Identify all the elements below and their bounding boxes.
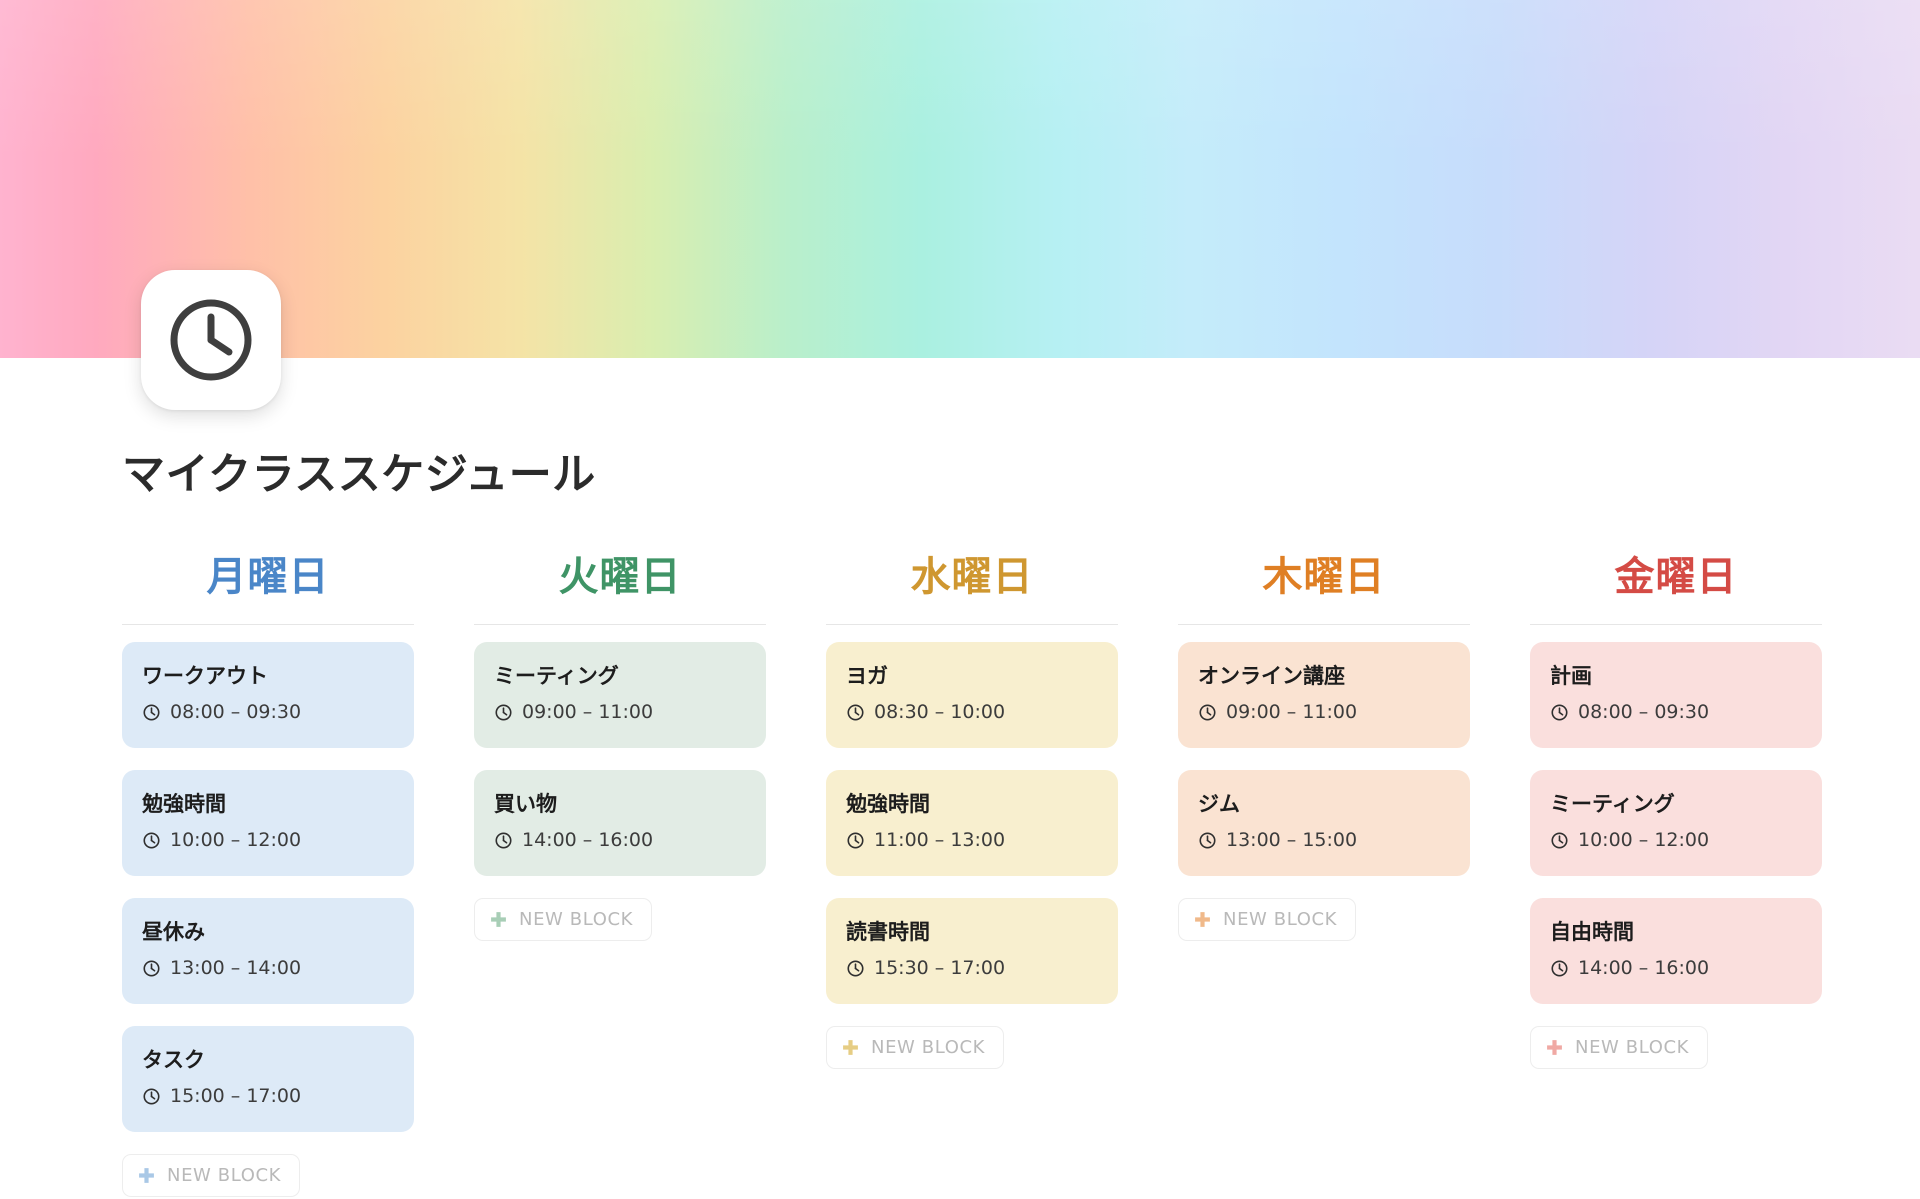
- schedule-block[interactable]: オンライン講座09:00 – 11:00: [1178, 642, 1470, 748]
- block-time-row: 08:00 – 09:30: [1550, 701, 1802, 724]
- block-title: ヨガ: [846, 663, 1098, 690]
- block-time-row: 14:00 – 16:00: [494, 829, 746, 852]
- block-time-row: 09:00 – 11:00: [494, 701, 746, 724]
- block-title: 勉強時間: [142, 791, 394, 818]
- block-title: ワークアウト: [142, 663, 394, 690]
- block-time-label: 13:00 – 15:00: [1226, 829, 1357, 852]
- block-time-row: 15:30 – 17:00: [846, 957, 1098, 980]
- day-column-2: 火曜日ミーティング09:00 – 11:00買い物14:00 – 16:00NE…: [474, 552, 766, 941]
- plus-icon: [489, 910, 508, 929]
- schedule-page: マイクラススケジュール 月曜日ワークアウト08:00 – 09:30勉強時間10…: [0, 0, 1920, 1199]
- block-time-label: 10:00 – 12:00: [170, 829, 301, 852]
- new-block-button[interactable]: NEW BLOCK: [474, 898, 652, 941]
- clock-icon: [1550, 959, 1569, 978]
- clock-icon: [142, 1087, 161, 1106]
- block-time-label: 14:00 – 16:00: [1578, 957, 1709, 980]
- clock-icon: [1550, 831, 1569, 850]
- block-title: 買い物: [494, 791, 746, 818]
- block-time-label: 08:00 – 09:30: [170, 701, 301, 724]
- schedule-block[interactable]: 昼休み13:00 – 14:00: [122, 898, 414, 1004]
- block-time-label: 15:00 – 17:00: [170, 1085, 301, 1108]
- block-title: 昼休み: [142, 919, 394, 946]
- block-title: ミーティング: [494, 663, 746, 690]
- block-title: 自由時間: [1550, 919, 1802, 946]
- day-heading: 木曜日: [1178, 552, 1470, 624]
- clock-icon: [141, 270, 281, 410]
- block-title: 読書時間: [846, 919, 1098, 946]
- block-time-label: 14:00 – 16:00: [522, 829, 653, 852]
- block-time-label: 13:00 – 14:00: [170, 957, 301, 980]
- schedule-block[interactable]: 計画08:00 – 09:30: [1530, 642, 1822, 748]
- block-title: ジム: [1198, 791, 1450, 818]
- schedule-block[interactable]: 買い物14:00 – 16:00: [474, 770, 766, 876]
- new-block-label: NEW BLOCK: [519, 911, 633, 929]
- day-divider: [826, 624, 1118, 625]
- plus-icon: [1545, 1038, 1564, 1057]
- day-column-4: 木曜日オンライン講座09:00 – 11:00ジム13:00 – 15:00NE…: [1178, 552, 1470, 941]
- plus-icon: [841, 1038, 860, 1057]
- block-time-label: 15:30 – 17:00: [874, 957, 1005, 980]
- block-time-row: 15:00 – 17:00: [142, 1085, 394, 1108]
- new-block-label: NEW BLOCK: [871, 1039, 985, 1057]
- block-title: 勉強時間: [846, 791, 1098, 818]
- new-block-label: NEW BLOCK: [1575, 1039, 1689, 1057]
- gradient-hero-banner: [0, 0, 1920, 358]
- block-time-label: 10:00 – 12:00: [1578, 829, 1709, 852]
- schedule-block[interactable]: ワークアウト08:00 – 09:30: [122, 642, 414, 748]
- block-title: ミーティング: [1550, 791, 1802, 818]
- block-time-label: 11:00 – 13:00: [874, 829, 1005, 852]
- block-time-row: 08:00 – 09:30: [142, 701, 394, 724]
- clock-icon: [846, 959, 865, 978]
- clock-icon: [1198, 703, 1217, 722]
- day-heading: 金曜日: [1530, 552, 1822, 624]
- block-time-row: 10:00 – 12:00: [1550, 829, 1802, 852]
- schedule-block[interactable]: 読書時間15:30 – 17:00: [826, 898, 1118, 1004]
- day-divider: [1178, 624, 1470, 625]
- new-block-label: NEW BLOCK: [167, 1167, 281, 1185]
- schedule-block[interactable]: ヨガ08:30 – 10:00: [826, 642, 1118, 748]
- day-divider: [122, 624, 414, 625]
- plus-icon: [1193, 910, 1212, 929]
- day-divider: [1530, 624, 1822, 625]
- block-time-row: 14:00 – 16:00: [1550, 957, 1802, 980]
- day-column-3: 水曜日ヨガ08:30 – 10:00勉強時間11:00 – 13:00読書時間1…: [826, 552, 1118, 1069]
- schedule-block[interactable]: ミーティング10:00 – 12:00: [1530, 770, 1822, 876]
- day-divider: [474, 624, 766, 625]
- day-column-1: 月曜日ワークアウト08:00 – 09:30勉強時間10:00 – 12:00昼…: [122, 552, 414, 1197]
- clock-icon: [494, 703, 513, 722]
- block-time-row: 13:00 – 14:00: [142, 957, 394, 980]
- plus-icon: [137, 1166, 156, 1185]
- clock-icon: [1198, 831, 1217, 850]
- block-time-row: 13:00 – 15:00: [1198, 829, 1450, 852]
- new-block-button[interactable]: NEW BLOCK: [826, 1026, 1004, 1069]
- clock-icon: [846, 831, 865, 850]
- day-heading: 月曜日: [122, 552, 414, 624]
- new-block-label: NEW BLOCK: [1223, 911, 1337, 929]
- clock-icon: [142, 959, 161, 978]
- schedule-block[interactable]: 勉強時間11:00 – 13:00: [826, 770, 1118, 876]
- schedule-block[interactable]: ジム13:00 – 15:00: [1178, 770, 1470, 876]
- block-title: 計画: [1550, 663, 1802, 690]
- week-grid: 月曜日ワークアウト08:00 – 09:30勉強時間10:00 – 12:00昼…: [122, 552, 1822, 1197]
- block-time-row: 10:00 – 12:00: [142, 829, 394, 852]
- new-block-button[interactable]: NEW BLOCK: [122, 1154, 300, 1197]
- block-title: オンライン講座: [1198, 663, 1450, 690]
- clock-icon: [846, 703, 865, 722]
- clock-icon: [142, 831, 161, 850]
- block-time-row: 08:30 – 10:00: [846, 701, 1098, 724]
- block-time-label: 09:00 – 11:00: [522, 701, 653, 724]
- block-time-label: 08:00 – 09:30: [1578, 701, 1709, 724]
- schedule-block[interactable]: ミーティング09:00 – 11:00: [474, 642, 766, 748]
- block-time-label: 09:00 – 11:00: [1226, 701, 1357, 724]
- new-block-button[interactable]: NEW BLOCK: [1178, 898, 1356, 941]
- block-time-row: 09:00 – 11:00: [1198, 701, 1450, 724]
- page-title: マイクラススケジュール: [122, 450, 596, 501]
- day-column-5: 金曜日計画08:00 – 09:30ミーティング10:00 – 12:00自由時…: [1530, 552, 1822, 1069]
- block-time-label: 08:30 – 10:00: [874, 701, 1005, 724]
- clock-icon: [494, 831, 513, 850]
- day-heading: 水曜日: [826, 552, 1118, 624]
- new-block-button[interactable]: NEW BLOCK: [1530, 1026, 1708, 1069]
- block-title: タスク: [142, 1047, 394, 1074]
- day-heading: 火曜日: [474, 552, 766, 624]
- schedule-block[interactable]: 勉強時間10:00 – 12:00: [122, 770, 414, 876]
- clock-icon: [1550, 703, 1569, 722]
- schedule-block[interactable]: 自由時間14:00 – 16:00: [1530, 898, 1822, 1004]
- clock-icon: [142, 703, 161, 722]
- schedule-block[interactable]: タスク15:00 – 17:00: [122, 1026, 414, 1132]
- block-time-row: 11:00 – 13:00: [846, 829, 1098, 852]
